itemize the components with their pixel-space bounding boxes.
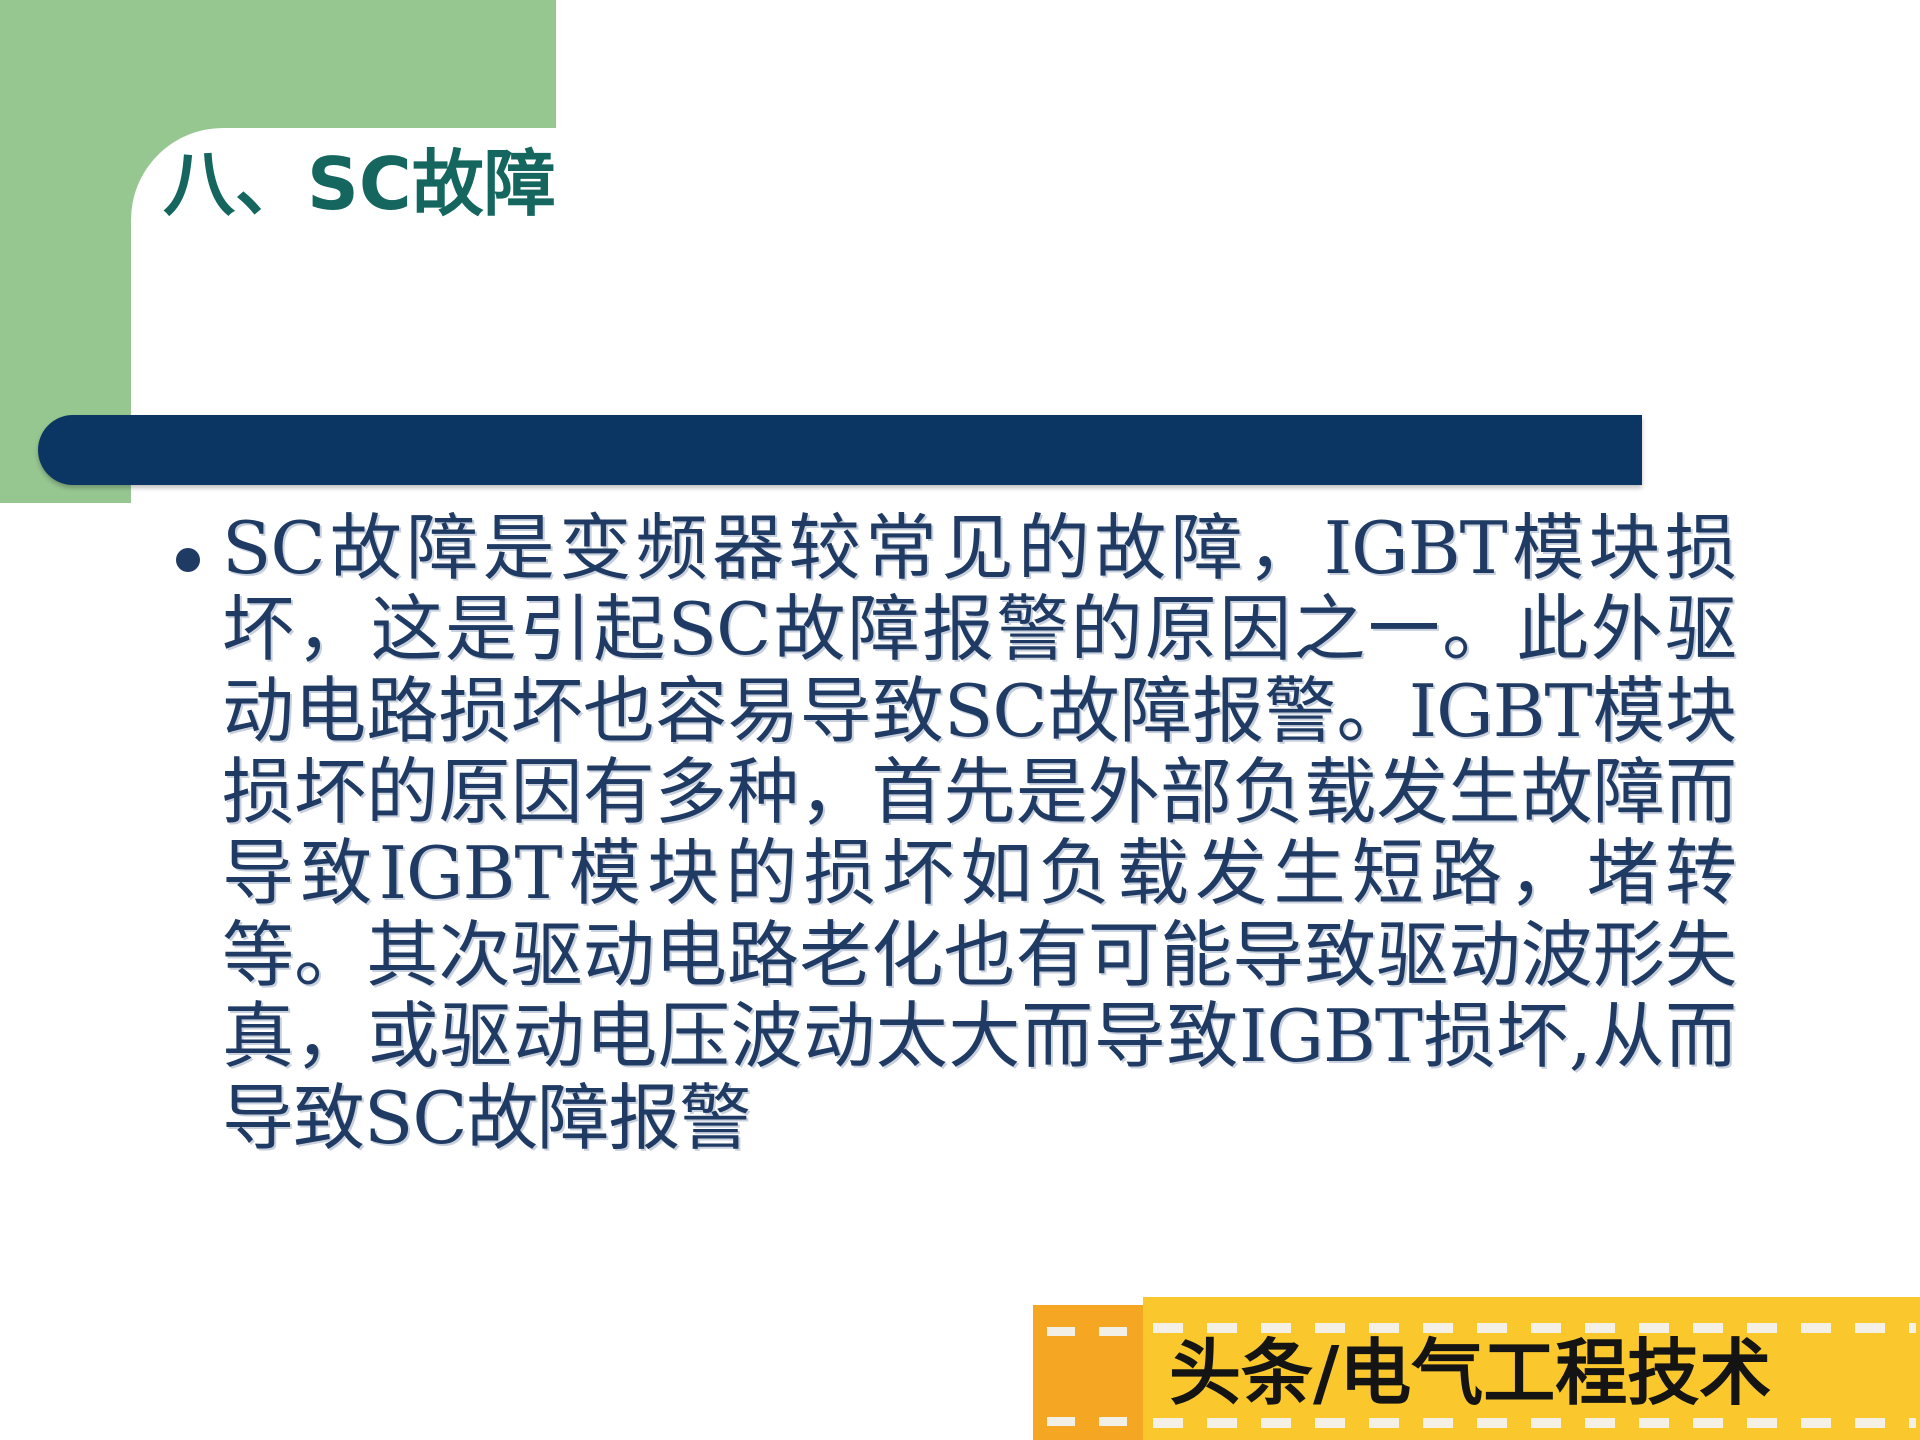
bullet-item: SC故障是变频器较常见的故障，IGBT模块损坏，这是引起SC故障报警的原因之一。… [176,508,1736,1159]
bullet-dot-icon [176,548,200,572]
watermark-label: 头条/电气工程技术 [1169,1337,1909,1409]
body-paragraph: SC故障是变频器较常见的故障，IGBT模块损坏，这是引起SC故障报警的原因之一。… [222,508,1736,1159]
ribbon-tail-dash-top [1047,1327,1157,1336]
ribbon-panel-shape: 头条/电气工程技术 [1143,1297,1920,1440]
ribbon-tail-dash-bottom [1047,1417,1157,1426]
slide-title: 八、SC故障 [163,147,556,223]
watermark-ribbon: 头条/电气工程技术 [1033,1297,1920,1440]
body-content: SC故障是变频器较常见的故障，IGBT模块损坏，这是引起SC故障报警的原因之一。… [176,508,1736,1159]
slide-canvas: 八、SC故障 SC故障是变频器较常见的故障，IGBT模块损坏，这是引起SC故障报… [0,0,1920,1440]
ribbon-dash-bottom [1153,1418,1916,1428]
navy-divider-bar [38,415,1642,485]
